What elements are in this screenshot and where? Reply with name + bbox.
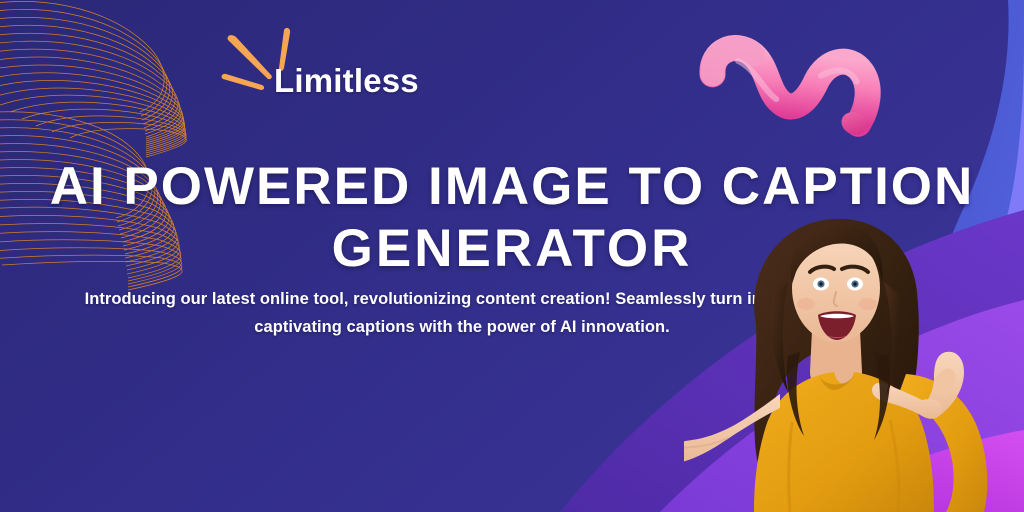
- promo-banner: Limitless AI POWERED IMAGE TO CAPTION GE…: [0, 0, 1024, 512]
- headline-line-1: AI POWERED IMAGE TO CAPTION: [40, 156, 984, 218]
- logo[interactable]: Limitless: [218, 24, 448, 108]
- logo-wordmark: Limitless: [274, 62, 419, 100]
- excited-woman-pointing-photo: [684, 212, 1024, 512]
